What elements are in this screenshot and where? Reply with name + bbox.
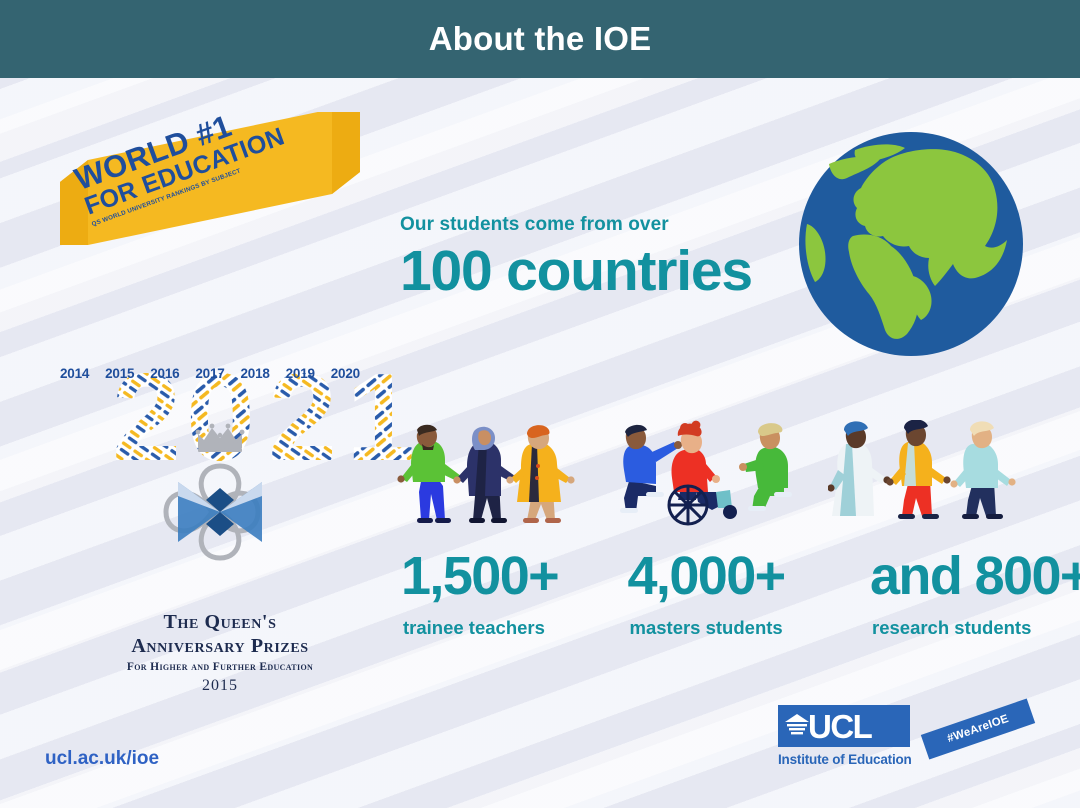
queens-year: 2015	[110, 677, 330, 695]
ucl-portico-icon	[784, 713, 810, 735]
year-label: 2017	[195, 366, 224, 381]
stat-research-students: and 800+ research students	[828, 420, 1045, 639]
queens-anniversary-prize-block: The Queen's Anniversary Prizes For Highe…	[110, 420, 330, 695]
queens-line2: Anniversary Prizes	[110, 635, 330, 659]
stat-number: 4,000+	[628, 549, 829, 603]
stat-number: and 800+	[870, 549, 1045, 603]
qs-award-block: WORLD #1 FOR EDUCATION QS WORLD UNIVERSI…	[60, 112, 360, 387]
three-seated-people-wheelchair-icon	[612, 420, 802, 535]
year-label: 2020	[331, 366, 360, 381]
stat-masters-students: 4,000+ masters students	[612, 420, 829, 639]
three-walking-people-icon	[395, 420, 585, 535]
countries-block: Our students come from over 100 countrie…	[400, 214, 752, 302]
stat-number: 1,500+	[401, 549, 612, 603]
walking-people-illustration	[395, 420, 612, 535]
year-label: 2015	[105, 366, 134, 381]
stat-label: masters students	[630, 617, 829, 639]
seated-people-illustration	[612, 420, 829, 535]
page-title: About the IOE	[429, 20, 652, 58]
stat-label: trainee teachers	[403, 617, 612, 639]
ucl-wordmark: UCL	[808, 707, 871, 747]
stat-label: research students	[872, 617, 1045, 639]
year-label: 2018	[241, 366, 270, 381]
year-label: 2019	[286, 366, 315, 381]
queens-prize-logo-icon	[120, 420, 320, 600]
page-header: About the IOE	[0, 0, 1080, 78]
year-label: 2016	[150, 366, 179, 381]
three-walking-people-alt-icon	[828, 420, 1018, 535]
year-label: 2014	[60, 366, 89, 381]
previous-years-row: 2014 2015 2016 2017 2018 2019 2020	[60, 366, 360, 381]
queens-line3: For Higher and Further Education	[110, 661, 330, 673]
countries-headline: 100 countries	[400, 242, 752, 302]
ucl-logo: UCL	[778, 705, 910, 747]
walking-people-alt-illustration	[828, 420, 1045, 535]
queens-line1: The Queen's	[110, 611, 330, 635]
statistics-row: 1,500+ trainee teachers	[395, 420, 1045, 639]
globe-icon	[795, 128, 1027, 360]
infographic-page: About the IOE WORLD #1 FOR EDUCATION QS …	[0, 0, 1080, 808]
queens-prize-caption: The Queen's Anniversary Prizes For Highe…	[110, 611, 330, 695]
stat-trainee-teachers: 1,500+ trainee teachers	[395, 420, 612, 639]
countries-subtitle: Our students come from over	[400, 214, 752, 236]
website-url[interactable]: ucl.ac.uk/ioe	[45, 748, 159, 770]
ucl-sublabel: Institute of Education	[778, 752, 918, 767]
